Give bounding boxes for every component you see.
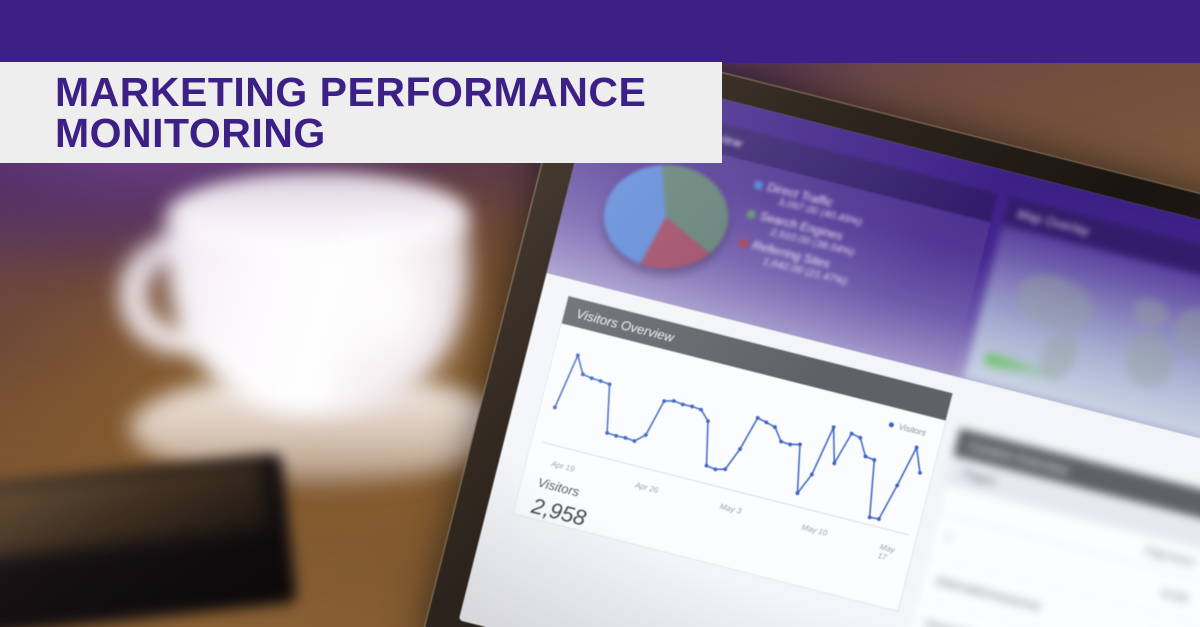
x-axis-tick-label: Apr 19 — [550, 459, 575, 474]
x-axis-tick-label: May 10 — [801, 523, 829, 538]
x-axis-tick-label: May 3 — [719, 502, 742, 516]
page-title: MARKETING PERFORMANCE MONITORING — [0, 72, 646, 152]
map-region-north-america — [1012, 268, 1100, 338]
legend-swatch-icon — [739, 239, 749, 249]
top-purple-bar — [0, 0, 1200, 63]
title-card: MARKETING PERFORMANCE MONITORING — [0, 62, 722, 163]
screenshot-canvas: Traffic Sources Overview Map Overlay Dir… — [0, 0, 1200, 627]
visitors-chart-area: Visitors Apr 19Apr 26May 3May 10May 17 V… — [514, 323, 946, 610]
map-region-africa — [1120, 327, 1180, 393]
visitors-kpi: Visitors 2,958 — [529, 475, 593, 532]
legend-swatch-icon — [746, 210, 756, 220]
cell-page: /resources — [924, 617, 977, 627]
cell-pageviews: 4,120 — [1160, 586, 1188, 604]
column-header-pageviews: Pageviews — [1144, 544, 1196, 568]
legend-swatch-icon — [754, 180, 764, 190]
cell-page: / — [945, 532, 951, 544]
x-axis-tick-label: Apr 26 — [634, 480, 659, 495]
cup-highlight — [330, 220, 480, 410]
map-region-europe — [1130, 295, 1172, 331]
traffic-sources-pie-chart — [596, 159, 736, 275]
x-axis-tick-label: May 17 — [877, 542, 896, 563]
